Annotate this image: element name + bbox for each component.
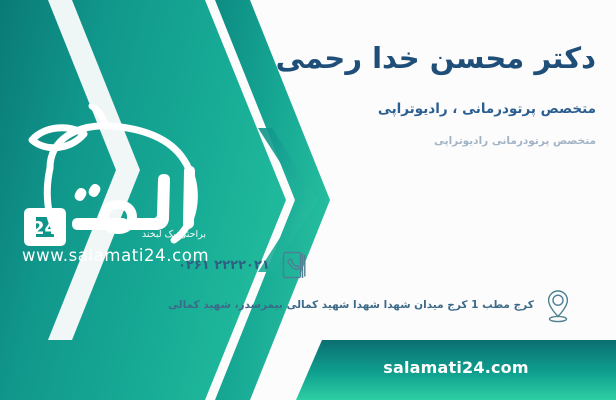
doctor-specialty-secondary: متخصص پرتودرمانی رادیوتراپی (176, 135, 596, 147)
phone-number: ۲۲۲۲۰۲۱ ۰۲۶۱ (178, 258, 270, 273)
address-text: کرج مطب 1 کرج میدان شهدا شهدا شهید کمالی… (168, 299, 534, 311)
footer-bar[interactable]: salamati24.com (296, 340, 616, 400)
phone-book-icon (279, 248, 309, 282)
doctor-specialty: متخصص پرتودرمانی ، رادیوتراپی (176, 101, 596, 117)
business-card: 24 براحتی یک لبخند www.salamati24.com دک… (0, 0, 616, 400)
contact-row-address[interactable]: کرج مطب 1 کرج میدان شهدا شهدا شهید کمالی… (168, 288, 598, 322)
contact-row-phone[interactable]: ۲۲۲۲۰۲۱ ۰۲۶۱ (178, 248, 598, 282)
map-pin-icon (543, 288, 573, 322)
footer-url: salamati24.com (296, 358, 616, 377)
doctor-name: دکتر محسن خدا رحمی (196, 40, 596, 76)
